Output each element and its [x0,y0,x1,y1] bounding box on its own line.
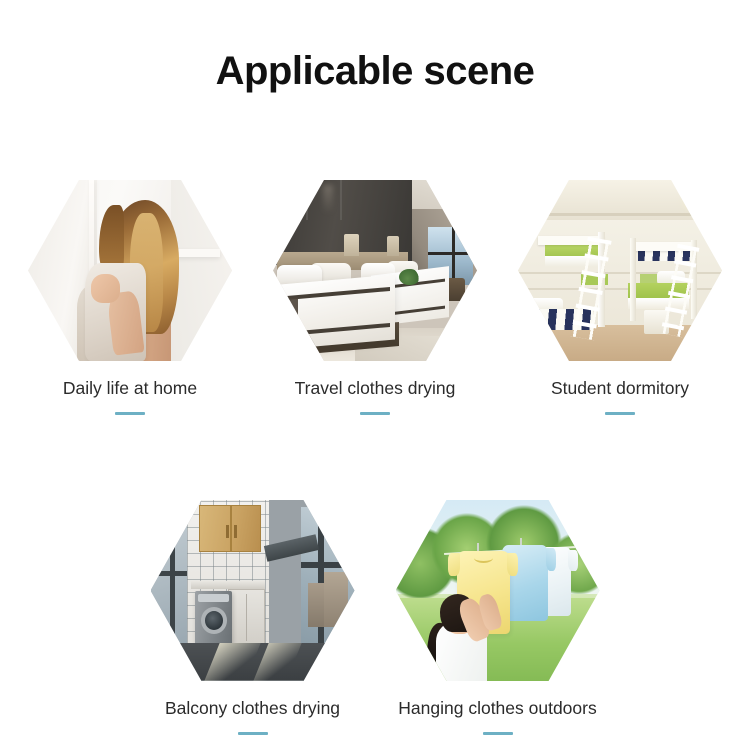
scene-image-balcony-clothes-drying [151,500,355,681]
scene-caption-travel-clothes-drying: Travel clothes drying [295,378,456,399]
scene-row-1: Daily life at home [0,180,750,415]
shirt-sleeve [448,553,460,576]
bed-first [273,274,395,350]
photo-woman-smelling-towel [28,180,232,361]
bedside-lamp [344,234,358,256]
window-mullion-vertical [170,514,175,644]
window-left [151,514,188,644]
floor [518,325,722,361]
scene-grid: Daily life at home [0,180,750,735]
cabinet-seam [246,594,247,641]
scene-card-balcony-clothes-drying[interactable]: Balcony clothes drying [151,500,355,735]
bed-trim [274,323,390,337]
bunk-post [630,238,636,321]
scene-image-daily-life-at-home [28,180,232,361]
shirt-sleeve [568,550,578,571]
cabinet-handle [234,525,237,538]
window-mullion-vertical [452,227,455,285]
scene-image-travel-clothes-drying [273,180,477,361]
ceiling-light [689,196,707,205]
caption-underline [238,732,268,735]
cabinet-handle [226,525,229,538]
ceiling-cornice [534,213,705,216]
wall-panel-seam [306,180,308,220]
caption-underline [115,412,145,415]
scene-row-2: Balcony clothes drying [0,500,750,735]
bed-runner [284,297,298,332]
woman-hand [91,274,120,303]
window-mullion-horizontal [301,562,354,568]
caption-underline [360,412,390,415]
countertop [191,581,264,588]
washing-machine [195,591,232,645]
wall-panel-seam [340,180,342,220]
wall-light-glow [323,185,333,214]
washer-door [201,607,227,634]
washer-control-panel [198,594,229,602]
scene-card-student-dormitory[interactable]: Student dormitory [518,180,722,415]
scene-caption-balcony-clothes-drying: Balcony clothes drying [165,698,340,719]
window-mullion-horizontal [428,252,473,255]
city-building [308,583,324,626]
scene-card-hanging-clothes-outdoors[interactable]: Hanging clothes outdoors [396,500,600,735]
caption-underline [483,732,513,735]
bedside-lamp [387,236,399,256]
scene-image-student-dormitory [518,180,722,361]
plant [399,269,419,285]
photo-balcony-laundry [151,500,355,681]
shirt-neckline [474,553,493,563]
photo-dormitory-bunk-beds [518,180,722,361]
caption-underline [605,412,635,415]
scene-caption-hanging-clothes-outdoors: Hanging clothes outdoors [398,698,596,719]
applicable-scene-page: Applicable scene [0,0,750,750]
shirt-sleeve [507,553,519,576]
scene-caption-student-dormitory: Student dormitory [551,378,689,399]
shirt-sleeve [546,548,557,571]
scene-image-hanging-clothes-outdoors [396,500,600,681]
scene-card-travel-clothes-drying[interactable]: Travel clothes drying [273,180,477,415]
photo-hotel-twin-beds [273,180,477,361]
photo-hanging-laundry-outdoors [396,500,600,681]
window-mullion-horizontal [151,571,188,576]
wall-right [171,180,232,361]
city-building [324,572,348,626]
cabinet-seam [230,505,232,552]
page-title: Applicable scene [0,48,750,94]
scene-card-daily-life-at-home[interactable]: Daily life at home [28,180,232,415]
scene-caption-daily-life-at-home: Daily life at home [63,378,197,399]
